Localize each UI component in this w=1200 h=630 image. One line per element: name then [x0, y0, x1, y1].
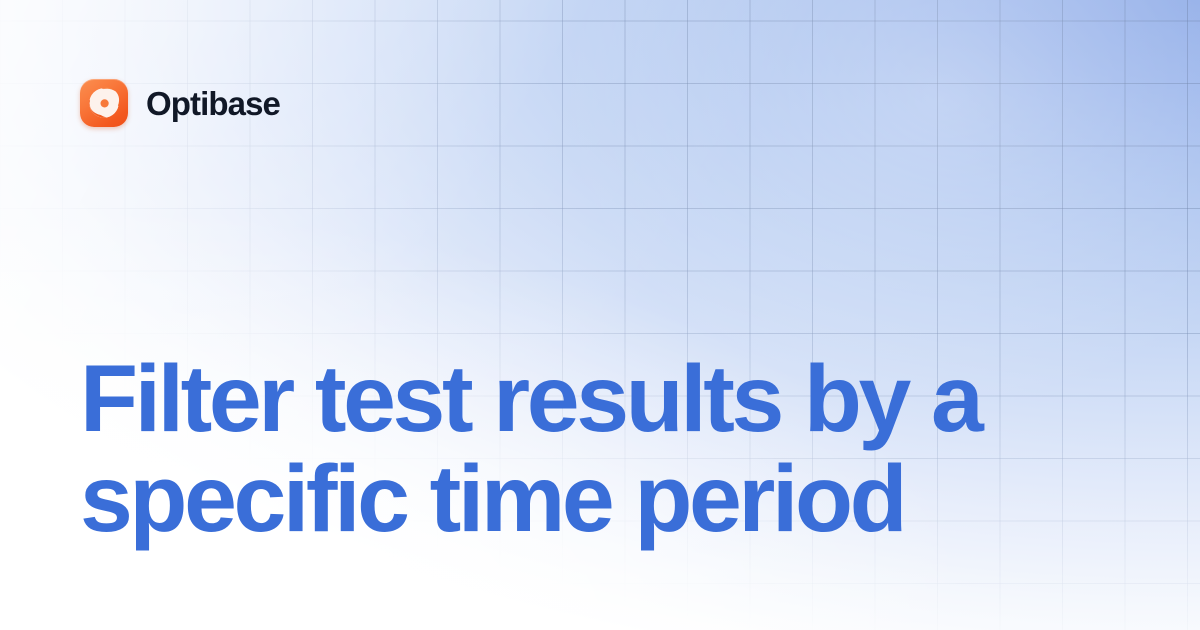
share-card: Optibase Filter test results by a specif…: [0, 0, 1200, 630]
brand-name: Optibase: [146, 87, 280, 120]
brand-lockup: Optibase: [80, 79, 280, 127]
page-title-line-1: Filter test results by a: [80, 349, 1090, 449]
page-title: Filter test results by a specific time p…: [80, 349, 1090, 549]
page-title-line-2: specific time period: [80, 449, 1090, 549]
optibase-leaf-eye-icon: [80, 79, 128, 127]
